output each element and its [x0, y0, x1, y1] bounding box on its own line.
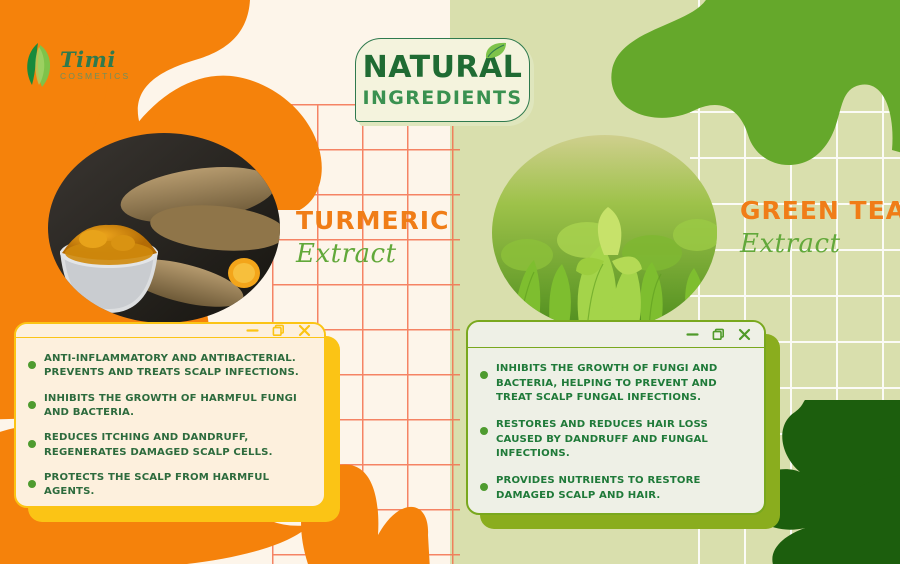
- benefit-text: INHIBITS THE GROWTH OF HARMFUL FUNGI AND…: [44, 392, 310, 421]
- list-item: RESTORES AND REDUCES HAIR LOSS CAUSED BY…: [480, 418, 750, 461]
- logo-brand-name: Timi: [60, 49, 130, 70]
- benefit-text: ANTI-INFLAMMATORY AND ANTIBACTERIAL. PRE…: [44, 352, 310, 381]
- leaf-icon: [485, 42, 507, 59]
- turmeric-subtitle: Extract: [296, 239, 449, 269]
- bullet-dot: [480, 371, 488, 379]
- benefit-text: RESTORES AND REDUCES HAIR LOSS CAUSED BY…: [496, 418, 750, 461]
- list-item: PROTECTS THE SCALP FROM HARMFUL AGENTS.: [28, 471, 310, 500]
- turmeric-benefits-window: ANTI-INFLAMMATORY AND ANTIBACTERIAL. PRE…: [14, 322, 326, 508]
- bullet-dot: [28, 440, 36, 448]
- bullet-dot: [28, 480, 36, 488]
- bullet-dot: [28, 401, 36, 409]
- minimize-icon[interactable]: [686, 328, 699, 341]
- restore-icon[interactable]: [712, 328, 725, 341]
- header-title-line1: NATURAL: [363, 53, 523, 83]
- window-titlebar[interactable]: [468, 322, 764, 348]
- window-frame: ANTI-INFLAMMATORY AND ANTIBACTERIAL. PRE…: [14, 322, 326, 508]
- bullet-dot: [480, 483, 488, 491]
- list-item: INHIBITS THE GROWTH OF FUNGI AND BACTERI…: [480, 362, 750, 405]
- green-tea-title: GREEN TEA: [740, 196, 900, 225]
- list-item: ANTI-INFLAMMATORY AND ANTIBACTERIAL. PRE…: [28, 352, 310, 381]
- header-badge: NATURAL INGREDIENTS: [355, 38, 530, 122]
- turmeric-benefits-list: ANTI-INFLAMMATORY AND ANTIBACTERIAL. PRE…: [28, 352, 310, 500]
- logo-tagline: COSMETICS: [60, 72, 130, 81]
- benefit-text: PROVIDES NUTRIENTS TO RESTORE DAMAGED SC…: [496, 474, 750, 503]
- green-tea-benefits-list: INHIBITS THE GROWTH OF FUNGI AND BACTERI…: [480, 362, 750, 503]
- green-tea-benefits-window: INHIBITS THE GROWTH OF FUNGI AND BACTERI…: [466, 320, 766, 515]
- restore-icon[interactable]: [272, 324, 285, 337]
- green-tea-image: [492, 135, 717, 330]
- brand-logo[interactable]: Timi COSMETICS: [22, 36, 142, 94]
- bullet-dot: [480, 427, 488, 435]
- bullet-dot: [28, 361, 36, 369]
- window-frame: INHIBITS THE GROWTH OF FUNGI AND BACTERI…: [466, 320, 766, 515]
- list-item: REDUCES ITCHING AND DANDRUFF, REGENERATE…: [28, 431, 310, 460]
- window-titlebar[interactable]: [16, 324, 324, 338]
- green-tea-subtitle: Extract: [740, 229, 900, 259]
- dark-green-blob-notch: [855, 470, 900, 564]
- turmeric-title-group: TURMERIC Extract: [296, 206, 449, 269]
- minimize-icon[interactable]: [246, 324, 259, 337]
- benefit-text: PROTECTS THE SCALP FROM HARMFUL AGENTS.: [44, 471, 310, 500]
- benefit-text: INHIBITS THE GROWTH OF FUNGI AND BACTERI…: [496, 362, 750, 405]
- close-icon[interactable]: [738, 328, 751, 341]
- close-icon[interactable]: [298, 324, 311, 337]
- poster-canvas: Timi COSMETICS NATURAL INGREDIENTS: [0, 0, 900, 564]
- list-item: INHIBITS THE GROWTH OF HARMFUL FUNGI AND…: [28, 392, 310, 421]
- header-title-line2: INGREDIENTS: [363, 89, 523, 108]
- benefit-text: REDUCES ITCHING AND DANDRUFF, REGENERATE…: [44, 431, 310, 460]
- window-body: ANTI-INFLAMMATORY AND ANTIBACTERIAL. PRE…: [16, 338, 324, 508]
- turmeric-title: TURMERIC: [296, 206, 449, 235]
- turmeric-image: [48, 133, 280, 323]
- green-tea-title-group: GREEN TEA Extract: [740, 196, 900, 259]
- window-body: INHIBITS THE GROWTH OF FUNGI AND BACTERI…: [468, 348, 764, 513]
- leaf-icon: [22, 41, 56, 89]
- list-item: PROVIDES NUTRIENTS TO RESTORE DAMAGED SC…: [480, 474, 750, 503]
